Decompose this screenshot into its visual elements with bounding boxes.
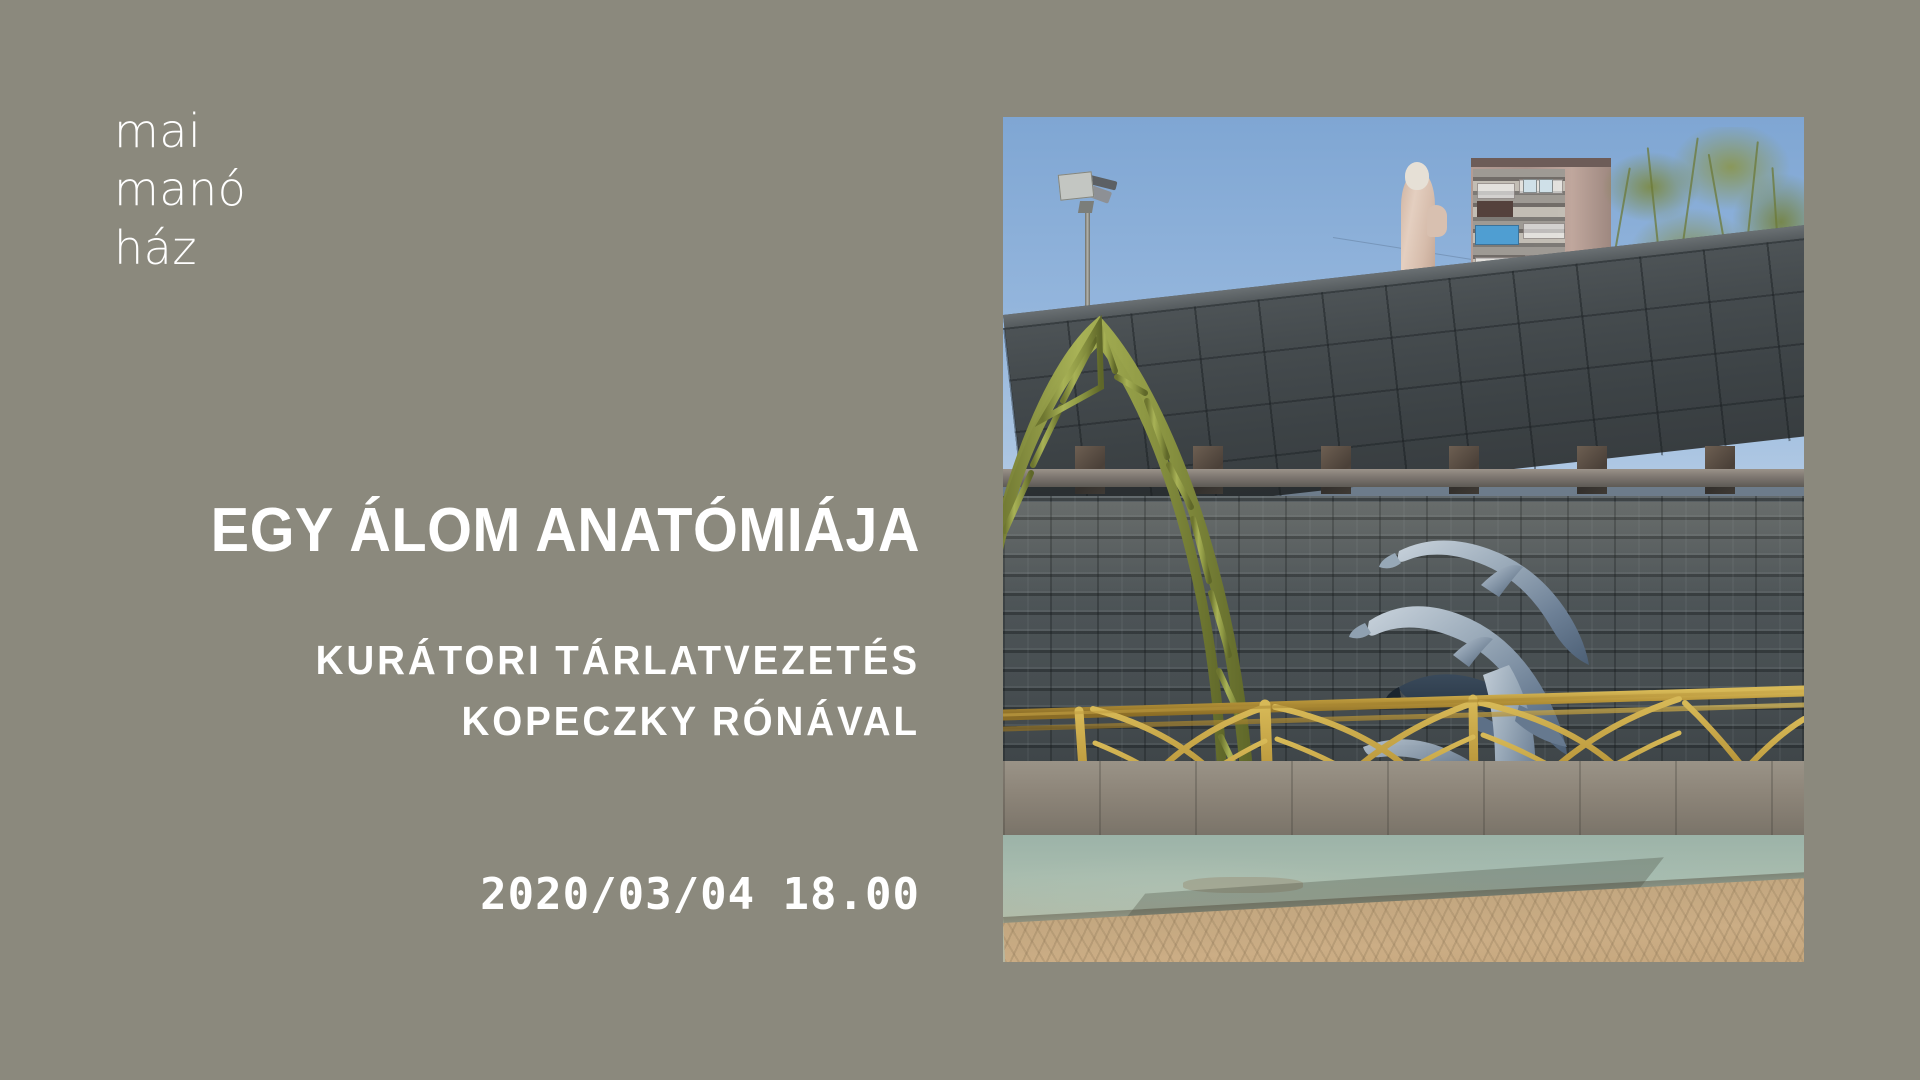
statue-head <box>1405 162 1429 190</box>
event-poster: mai manó ház EGY ÁLOM ANATÓMIÁJA KURÁTOR… <box>0 0 1920 1080</box>
event-text-block: EGY ÁLOM ANATÓMIÁJA KURÁTORI TÁRLATVEZET… <box>100 500 920 920</box>
logo-line-1: mai <box>114 102 246 160</box>
balcony <box>1523 223 1565 239</box>
event-title: EGY ÁLOM ANATÓMIÁJA <box>157 500 920 562</box>
logo-line-2: manó <box>114 160 246 218</box>
balcony-with-blue-tarp <box>1475 225 1519 245</box>
event-subtitle-line-1: KURÁTORI TÁRLATVEZETÉS <box>149 630 920 691</box>
event-datetime: 2020/03/04 18.00 <box>100 869 920 920</box>
balcony <box>1477 201 1513 217</box>
window <box>1539 179 1553 193</box>
floodlight-mount <box>1078 201 1094 213</box>
event-subtitle-line-2: KOPECZKY RÓNÁVAL <box>149 691 920 752</box>
floodlight-head <box>1058 171 1095 200</box>
logo-line-3: ház <box>114 219 246 277</box>
building-roof <box>1471 158 1611 167</box>
event-subtitle: KURÁTORI TÁRLATVEZETÉS KOPECZKY RÓNÁVAL <box>149 630 920 751</box>
balcony <box>1477 183 1515 199</box>
statue-arm <box>1427 205 1447 237</box>
event-photograph <box>1003 117 1804 962</box>
mai-mano-haz-logo: mai manó ház <box>114 102 246 277</box>
window <box>1523 179 1537 193</box>
